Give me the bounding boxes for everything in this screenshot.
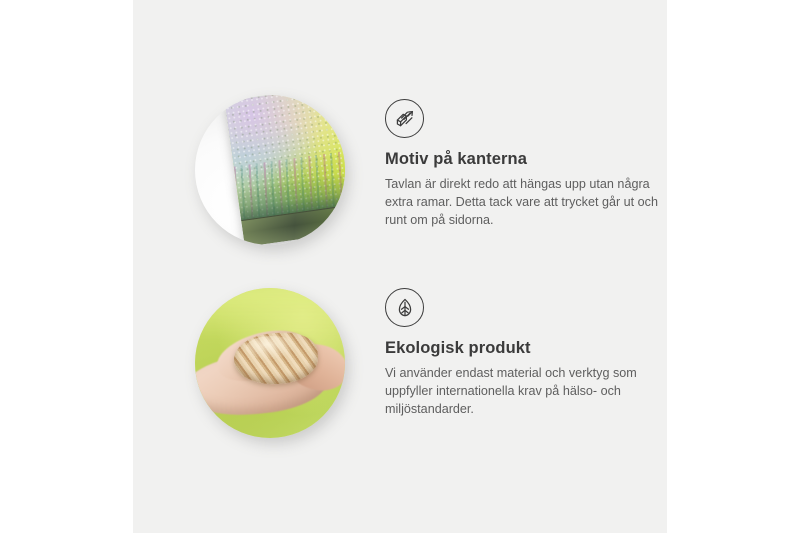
wood-chips-highlight (246, 336, 297, 360)
feature-text-edges: Motiv på kanterna Tavlan är direkt redo … (385, 95, 675, 229)
meadow-background (195, 288, 345, 438)
wood-chips-photo-wrapper (195, 288, 345, 438)
feature-text-eco: Ekologisk produkt Vi använder endast mat… (385, 288, 675, 418)
feature-title: Motiv på kanterna (385, 150, 675, 170)
product-info-graphic: Motiv på kanterna Tavlan är direkt redo … (0, 0, 800, 533)
feature-body: Vi använder endast material och verktyg … (385, 365, 661, 419)
leaf-icon (385, 288, 424, 327)
feature-body: Tavlan är direkt redo att hängas upp uta… (385, 176, 661, 230)
wood-chips-photo (195, 288, 345, 438)
canvas-scene-background (195, 95, 345, 245)
canvas-wrapped-edge-icon (385, 99, 424, 138)
canvas-print-photo (195, 95, 345, 245)
canvas-print-block (224, 95, 345, 245)
content-panel: Motiv på kanterna Tavlan är direkt redo … (133, 0, 667, 533)
feature-title: Ekologisk produkt (385, 339, 675, 359)
canvas-print-photo-wrapper (195, 95, 345, 245)
